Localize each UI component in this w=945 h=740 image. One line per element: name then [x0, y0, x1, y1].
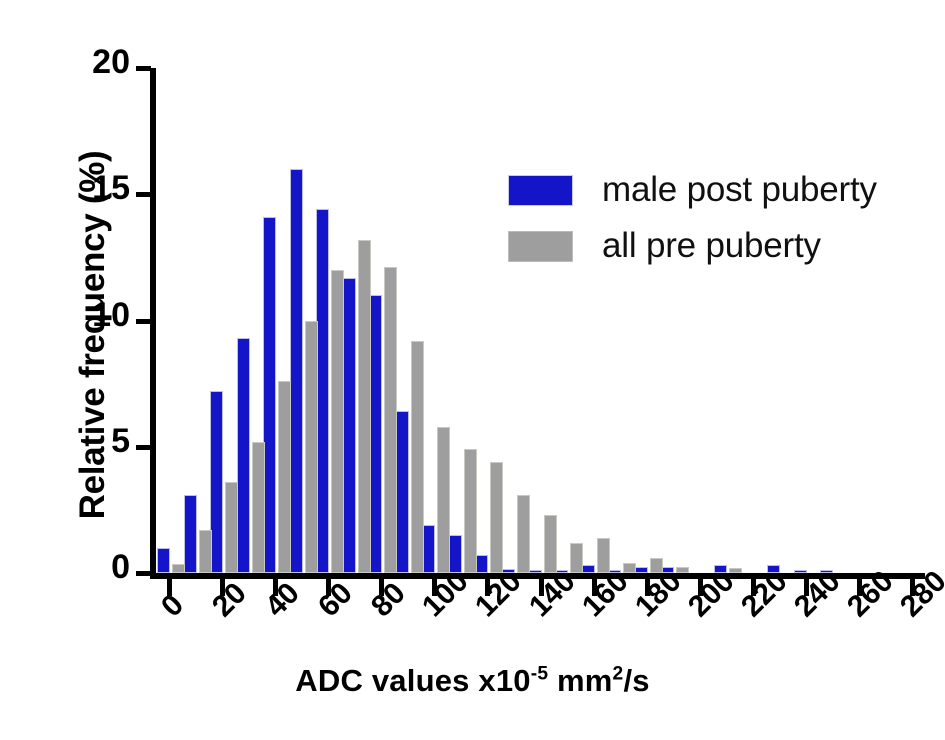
- y-tick-0: [136, 571, 151, 576]
- bar-male-post-puberty-40: [263, 217, 276, 573]
- bar-male-post-puberty-180: [635, 567, 648, 573]
- x-tick-label-40: 40: [259, 576, 307, 624]
- chart-legend: male post puberty all pre puberty: [508, 162, 938, 274]
- y-tick-label-0: 0: [78, 548, 130, 587]
- chart-figure: Relative frequency (%) 05101520 02040608…: [0, 0, 945, 740]
- bar-all-pre-puberty-150: [570, 543, 583, 573]
- bar-male-post-puberty-30: [237, 338, 250, 573]
- x-axis-title-end: /s: [623, 663, 649, 698]
- bar-male-post-puberty-150: [555, 570, 568, 573]
- bar-all-pre-puberty-30: [252, 442, 265, 573]
- y-tick-10: [136, 319, 151, 324]
- bar-male-post-puberty-0: [157, 548, 170, 573]
- legend-swatch-icon-male-post-puberty: [508, 175, 573, 206]
- x-axis-title-exponent: -5: [531, 664, 548, 685]
- y-tick-5: [136, 445, 151, 450]
- bar-all-pre-puberty-190: [676, 567, 689, 573]
- bar-male-post-puberty-100: [422, 525, 435, 573]
- y-tick-label-15: 15: [78, 169, 130, 208]
- y-tick-15: [136, 192, 151, 197]
- bar-all-pre-puberty-90: [411, 341, 424, 573]
- bar-male-post-puberty-240: [794, 570, 807, 573]
- bars-layer: [156, 68, 925, 573]
- bar-all-pre-puberty-140: [544, 515, 557, 573]
- y-axis-title: Relative frequency (%): [73, 75, 113, 595]
- legend-item-all-pre-puberty: all pre puberty: [508, 218, 938, 274]
- legend-label-male-post-puberty: male post puberty: [602, 170, 877, 210]
- x-axis-title-mid: mm: [548, 663, 612, 698]
- y-tick-label-5: 5: [78, 422, 130, 461]
- bar-all-pre-puberty-180: [650, 558, 663, 573]
- bar-all-pre-puberty-110: [464, 449, 477, 573]
- bar-male-post-puberty-210: [714, 565, 727, 573]
- y-tick-20: [136, 66, 151, 71]
- bar-male-post-puberty-190: [661, 567, 674, 573]
- x-axis-title-main: ADC values x10: [295, 663, 530, 698]
- bar-male-post-puberty-20: [210, 391, 223, 573]
- y-tick-label-20: 20: [78, 43, 130, 82]
- bar-male-post-puberty-160: [582, 565, 595, 573]
- bar-all-pre-puberty-80: [384, 267, 397, 573]
- x-tick-label-60: 60: [312, 576, 360, 624]
- bar-all-pre-puberty-0: [172, 564, 185, 573]
- bar-male-post-puberty-10: [184, 495, 197, 573]
- bar-all-pre-puberty-20: [225, 482, 238, 573]
- bar-all-pre-puberty-120: [490, 462, 503, 573]
- x-tick-label-0: 0: [155, 588, 191, 624]
- bar-male-post-puberty-90: [396, 411, 409, 573]
- bar-all-pre-puberty-100: [437, 427, 450, 573]
- bar-all-pre-puberty-210: [729, 568, 742, 573]
- legend-swatch-icon-all-pre-puberty: [508, 231, 573, 262]
- legend-item-male-post-puberty: male post puberty: [508, 162, 938, 218]
- bar-all-pre-puberty-130: [517, 495, 530, 573]
- bar-male-post-puberty-130: [502, 569, 515, 573]
- bar-all-pre-puberty-70: [358, 240, 371, 573]
- bar-male-post-puberty-50: [290, 169, 303, 573]
- legend-label-all-pre-puberty: all pre puberty: [602, 226, 821, 266]
- x-tick-label-20: 20: [206, 576, 254, 624]
- bar-all-pre-puberty-170: [623, 563, 636, 573]
- bar-male-post-puberty-60: [316, 209, 329, 573]
- x-tick-label-80: 80: [365, 576, 413, 624]
- bar-all-pre-puberty-10: [199, 530, 212, 573]
- bar-male-post-puberty-170: [608, 570, 621, 573]
- bar-male-post-puberty-80: [369, 295, 382, 573]
- bar-male-post-puberty-110: [449, 535, 462, 573]
- bar-male-post-puberty-140: [529, 570, 542, 573]
- bar-male-post-puberty-230: [767, 565, 780, 573]
- bar-all-pre-puberty-50: [305, 321, 318, 574]
- bar-all-pre-puberty-40: [278, 381, 291, 573]
- bar-all-pre-puberty-60: [331, 270, 344, 573]
- bar-male-post-puberty-120: [475, 555, 488, 573]
- x-axis-title-exponent2: 2: [613, 664, 624, 685]
- bar-male-post-puberty-250: [820, 570, 833, 573]
- bar-male-post-puberty-70: [343, 278, 356, 573]
- x-axis-title: ADC values x10-5 mm2/s: [0, 663, 945, 699]
- bar-all-pre-puberty-160: [597, 538, 610, 573]
- y-tick-label-10: 10: [78, 296, 130, 335]
